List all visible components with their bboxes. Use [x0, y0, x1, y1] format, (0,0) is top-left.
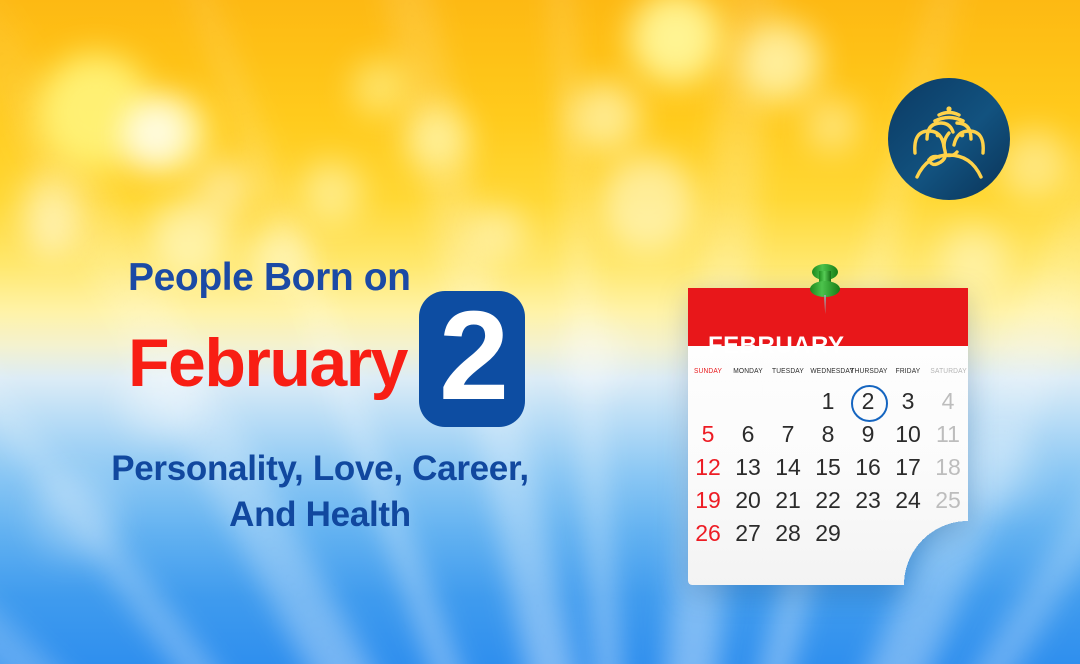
headline-block: People Born on February 2 [0, 258, 610, 427]
calendar-month-label: FEBRUARY [708, 332, 844, 360]
headline-line2: February 2 [128, 299, 610, 427]
calendar-cell-empty [688, 385, 728, 418]
day-header-thursday: THURSDAY [850, 366, 885, 375]
calendar-cell-empty [728, 385, 768, 418]
calendar-cell-11[interactable]: 11 [928, 418, 968, 451]
day-header-friday: FRIDAY [890, 366, 925, 375]
subtitle-block: Personality, Love, Career, And Health [0, 446, 640, 537]
calendar-cell-23[interactable]: 23 [848, 484, 888, 517]
calendar-day-headers: SUNDAY MONDAY TUESDAY WEDNESDAY THURSDAY… [688, 366, 968, 375]
calendar-cell-29[interactable]: 29 [808, 517, 848, 550]
calendar-cell-13[interactable]: 13 [728, 451, 768, 484]
calendar-cell-12[interactable]: 12 [688, 451, 728, 484]
calendar-cell-20[interactable]: 20 [728, 484, 768, 517]
calendar-cell-24[interactable]: 24 [888, 484, 928, 517]
subtitle-line1: Personality, Love, Career, [0, 446, 640, 492]
calendar-cell-4[interactable]: 4 [928, 385, 968, 418]
calendar-cell-26[interactable]: 26 [688, 517, 728, 550]
calendar-cell-1[interactable]: 1 [808, 385, 848, 418]
calendar-cell-16[interactable]: 16 [848, 451, 888, 484]
green-pushpin-icon [806, 262, 844, 318]
calendar-cell-21[interactable]: 21 [768, 484, 808, 517]
calendar-cell-17[interactable]: 17 [888, 451, 928, 484]
calendar-cell-22[interactable]: 22 [808, 484, 848, 517]
calendar-cell-15[interactable]: 15 [808, 451, 848, 484]
calendar-dates: 1234567891011121314151617181920212223242… [688, 385, 968, 550]
calendar-cell-empty [888, 517, 928, 550]
day-header-saturday: SATURDAY [930, 366, 965, 375]
calendar-cell-8[interactable]: 8 [808, 418, 848, 451]
calendar-grid: SUNDAY MONDAY TUESDAY WEDNESDAY THURSDAY… [688, 366, 968, 550]
calendar-cell-7[interactable]: 7 [768, 418, 808, 451]
february-calendar: FEBRUARY SUNDAY MONDAY TUESDAY WEDNESDAY… [688, 288, 968, 585]
calendar-cell-25[interactable]: 25 [928, 484, 968, 517]
calendar-cell-3[interactable]: 3 [888, 385, 928, 418]
day-header-sunday: SUNDAY [690, 366, 725, 375]
headline-line1: People Born on [128, 258, 610, 297]
calendar-cell-14[interactable]: 14 [768, 451, 808, 484]
calendar-cell-28[interactable]: 28 [768, 517, 808, 550]
day-header-tuesday: TUESDAY [770, 366, 805, 375]
day-number-badge: 2 [419, 291, 525, 427]
calendar-cell-empty [768, 385, 808, 418]
day-header-monday: MONDAY [730, 366, 765, 375]
hero-banner: People Born on February 2 Personality, L… [0, 0, 1080, 664]
calendar-cell-10[interactable]: 10 [888, 418, 928, 451]
day-number-text: 2 [439, 307, 505, 405]
calendar-cell-empty [848, 517, 888, 550]
calendar-cell-19[interactable]: 19 [688, 484, 728, 517]
subtitle-line2: And Health [0, 492, 640, 538]
calendar-cell-9[interactable]: 9 [848, 418, 888, 451]
day-header-wednesday: WEDNESDAY [810, 366, 845, 375]
calendar-cell-6[interactable]: 6 [728, 418, 768, 451]
calendar-cell-18[interactable]: 18 [928, 451, 968, 484]
headline-month: February [128, 329, 407, 397]
calendar-cell-empty [928, 517, 968, 550]
calendar-cell-2[interactable]: 2 [848, 385, 888, 418]
calendar-cell-27[interactable]: 27 [728, 517, 768, 550]
calendar-cell-5[interactable]: 5 [688, 418, 728, 451]
ganesha-logo [887, 77, 1011, 201]
